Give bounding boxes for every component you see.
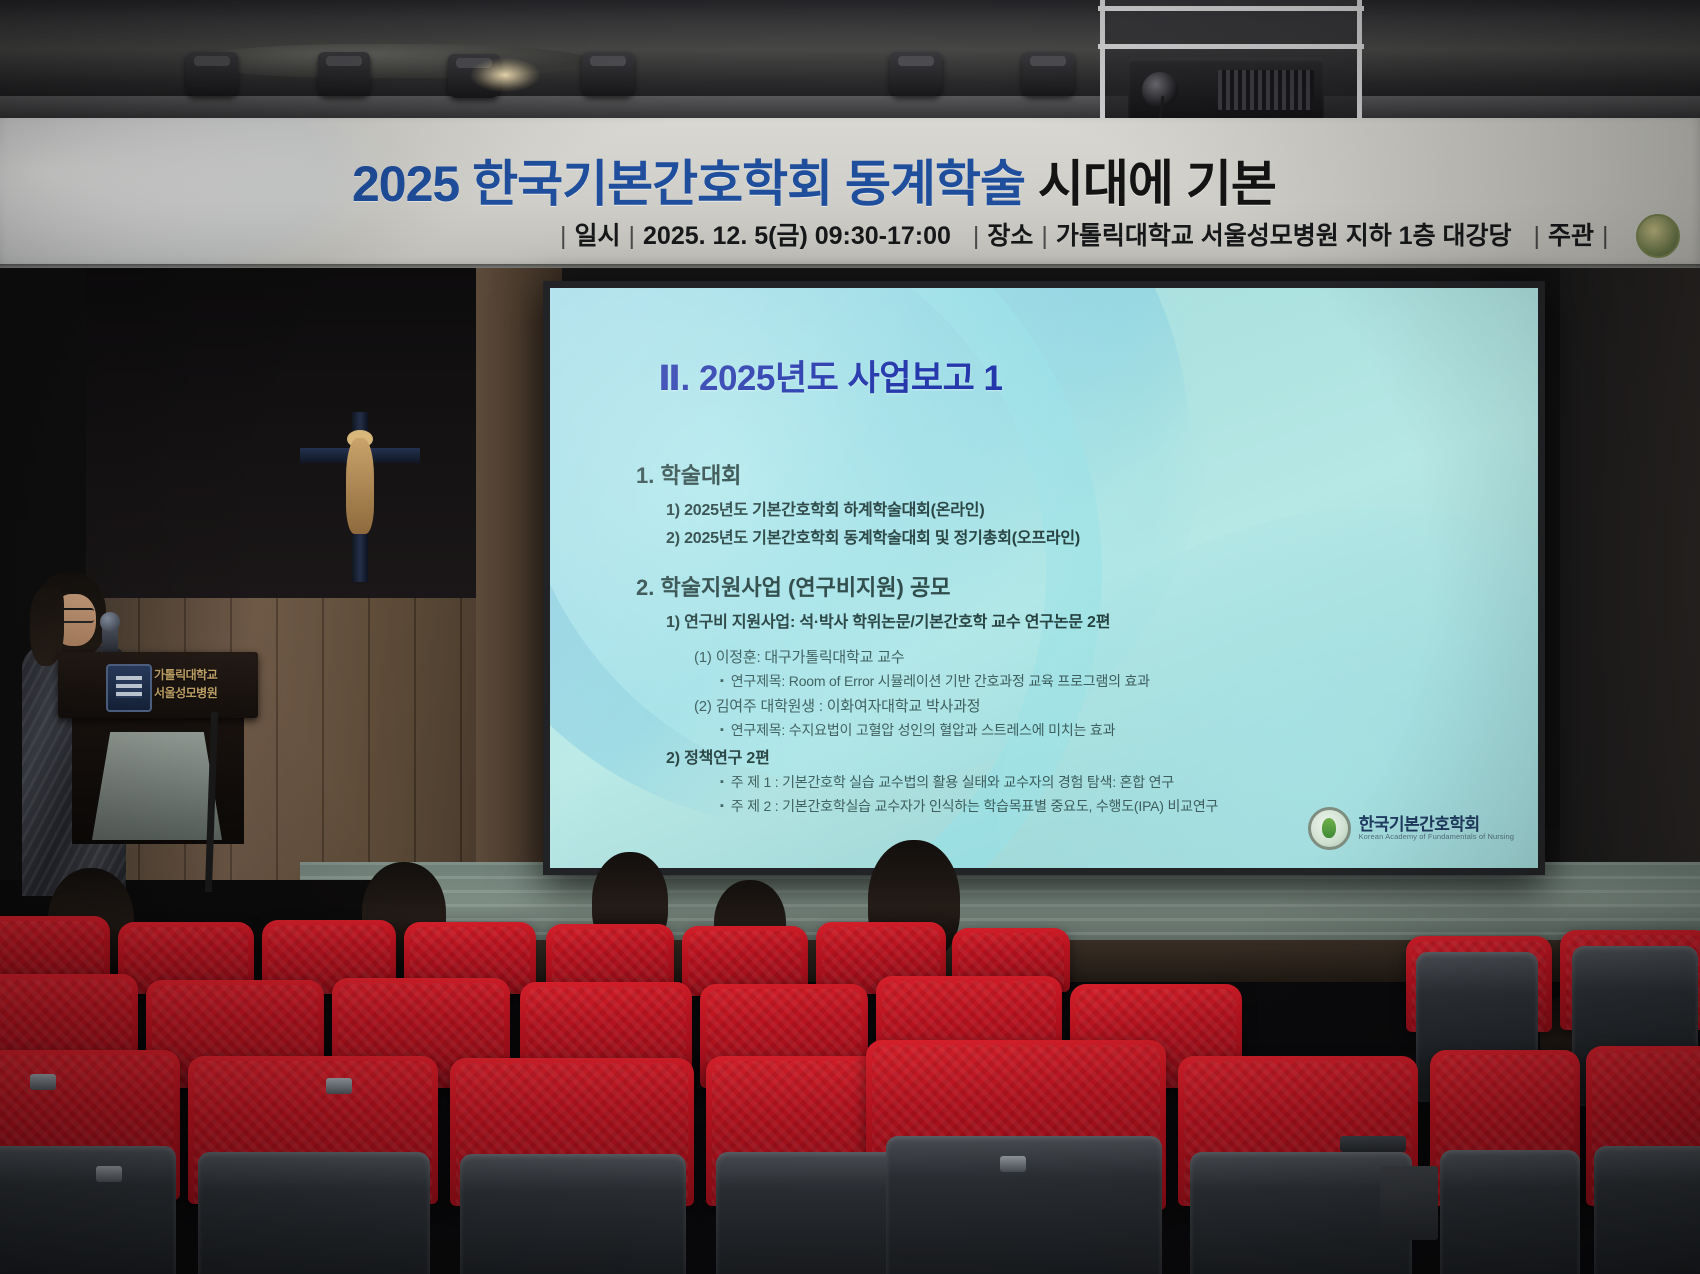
- seat-clip: [30, 1074, 56, 1090]
- banner-society-logo-icon: [1636, 214, 1680, 258]
- society-name-en: Korean Academy of Fundamentals of Nursin…: [1359, 833, 1514, 841]
- banner-sep: |: [951, 222, 987, 250]
- ceiling-spotlight: [890, 52, 942, 96]
- theater-seat-back[interactable]: [1190, 1152, 1412, 1274]
- crucifix-figure: [346, 438, 374, 534]
- banner-host-label: 주관: [1548, 222, 1594, 250]
- right-wall-wood: [1560, 268, 1700, 928]
- projector-vent: [1218, 70, 1314, 110]
- slide-bullet: 주 제 1 : 기본간호학 실습 교수법의 활용 실태와 교수자의 경험 탐색:…: [720, 772, 1504, 792]
- banner-sep: |: [552, 222, 575, 250]
- slide-body: 1. 학술대회 1) 2025년도 기본간호학회 하계학술대회(온라인) 2) …: [636, 458, 1504, 820]
- society-logo: 한국기본간호학회 Korean Academy of Fundamentals …: [1308, 807, 1514, 850]
- seat-writing-tray[interactable]: [1380, 1166, 1438, 1240]
- slide-item: (2) 김여주 대학원생 : 이화여자대학교 박사과정: [694, 695, 1504, 716]
- banner-decoration: [0, 118, 380, 270]
- seat-clip: [96, 1166, 122, 1182]
- society-name-kr: 한국기본간호학회: [1359, 816, 1514, 834]
- banner-sep: |: [1512, 222, 1548, 250]
- banner-subtitle: |일시|2025. 12. 5(금) 09:30-17:00 |장소|가톨릭대학…: [552, 216, 1616, 252]
- banner-sep: |: [1594, 222, 1617, 250]
- theater-seat-back[interactable]: [460, 1154, 686, 1274]
- crucifix-icon: [300, 412, 420, 582]
- banner-place-value: 가톨릭대학교 서울성모병원 지하 1층 대강당: [1056, 222, 1512, 250]
- banner-title: 2025 한국기본간호학회 동계학술 시대에 기본: [352, 144, 1276, 216]
- banner-date-label: 일시: [575, 222, 621, 250]
- lectern-label: 가톨릭대학교 서울성모병원: [154, 666, 254, 702]
- banner-place-label: 장소: [987, 222, 1033, 250]
- ceiling-spotlight: [582, 52, 634, 96]
- slide-item: 1) 연구비 지원사업: 석·박사 학위논문/기본간호학 교수 연구논문 2편: [666, 608, 1504, 632]
- hospital-emblem-icon: [106, 664, 152, 712]
- society-logo-icon: [1308, 807, 1351, 850]
- seat-writing-tray[interactable]: [1340, 1136, 1406, 1152]
- slide-heading-1: 1. 학술대회: [636, 458, 1504, 490]
- slide-spacer: [636, 636, 1504, 646]
- seating-area: [0, 900, 1700, 1274]
- slide-bullet: 연구제목: 수지요법이 고혈압 성인의 혈압과 스트레스에 미치는 효과: [720, 720, 1504, 740]
- slide-item: 2) 정책연구 2편: [666, 744, 1504, 768]
- banner-sep: |: [1033, 222, 1056, 250]
- ceiling: [0, 0, 1700, 118]
- lectern-base: [92, 732, 222, 840]
- slide-item: 2) 2025년도 기본간호학회 동계학술대회 및 정기총회(오프라인): [666, 524, 1504, 548]
- slide-title: Ⅱ. 2025년도 사업보고 1: [658, 350, 1002, 401]
- slide-bullet: 연구제목: Room of Error 시뮬레이션 기반 간호과정 교육 프로그…: [720, 671, 1504, 691]
- ceiling-spotlight: [186, 52, 238, 96]
- ceiling-spotlight: [318, 52, 370, 96]
- banner-date-value: 2025. 12. 5(금) 09:30-17:00: [643, 222, 951, 250]
- rig-bar: [1098, 6, 1364, 11]
- slide-spacer: [636, 552, 1504, 570]
- theater-seat-back[interactable]: [1440, 1150, 1580, 1274]
- banner-title-tail: 시대에 기본: [1038, 156, 1276, 212]
- theater-seat-back[interactable]: [198, 1152, 430, 1274]
- slide-item: 1) 2025년도 기본간호학회 하계학술대회(온라인): [666, 496, 1504, 520]
- microphone-head-icon: [100, 612, 120, 632]
- auditorium-photo: 2025 한국기본간호학회 동계학술 시대에 기본 |일시|2025. 12. …: [0, 0, 1700, 1274]
- ceiling-light-glow: [470, 58, 540, 92]
- event-banner: 2025 한국기본간호학회 동계학술 시대에 기본 |일시|2025. 12. …: [0, 118, 1700, 270]
- rig-bar: [1098, 44, 1364, 49]
- seat-clip: [326, 1078, 352, 1094]
- banner-sep: |: [621, 222, 644, 250]
- projection-screen-frame: Ⅱ. 2025년도 사업보고 1 1. 학술대회 1) 2025년도 기본간호학…: [543, 281, 1545, 875]
- slide-heading-2: 2. 학술지원사업 (연구비지원) 공모: [636, 570, 1504, 602]
- ceiling-spotlight: [1022, 52, 1074, 96]
- slide-item: (1) 이정훈: 대구가톨릭대학교 교수: [694, 646, 1504, 667]
- lectern-label-line1: 가톨릭대학교: [154, 666, 254, 684]
- theater-seat-back[interactable]: [1594, 1146, 1700, 1274]
- presentation-slide: Ⅱ. 2025년도 사업보고 1 1. 학술대회 1) 2025년도 기본간호학…: [550, 288, 1538, 868]
- society-logo-text: 한국기본간호학회 Korean Academy of Fundamentals …: [1359, 816, 1514, 842]
- banner-title-main: 2025 한국기본간호학회 동계학술: [352, 156, 1025, 212]
- seat-clip: [1000, 1156, 1026, 1172]
- theater-seat-back[interactable]: [0, 1146, 176, 1274]
- lectern-label-line2: 서울성모병원: [154, 684, 254, 702]
- lectern-top: 가톨릭대학교 서울성모병원: [58, 652, 258, 718]
